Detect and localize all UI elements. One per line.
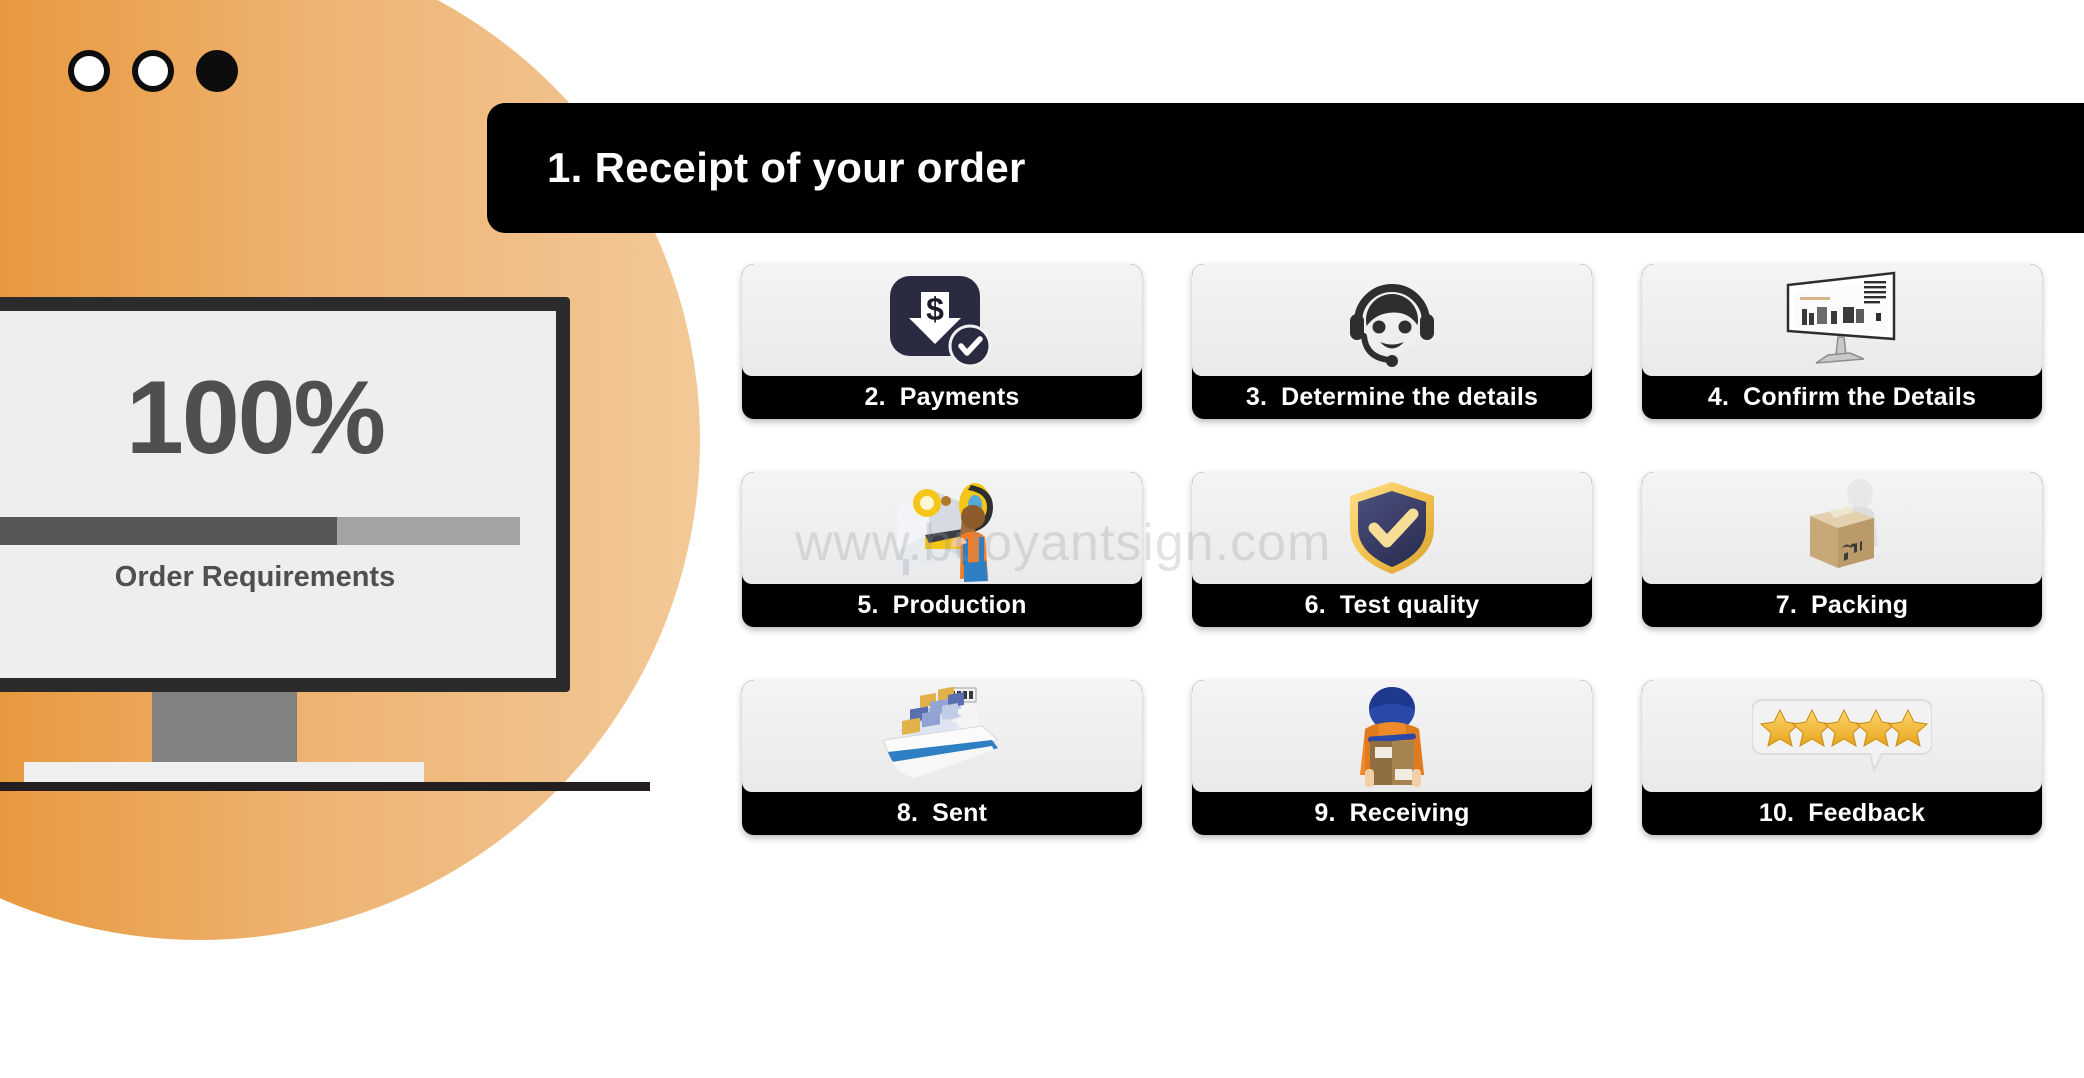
- five-star-rating-bubble-icon: [1752, 694, 1932, 778]
- window-dot-3: [196, 50, 238, 92]
- step-number: 5.: [857, 591, 878, 620]
- monitor-illustration: 100% Order Requirements: [0, 297, 570, 692]
- step-icon-area: [1642, 472, 2042, 584]
- step-label: 9. Receiving: [1192, 792, 1592, 835]
- step-text: Packing: [1811, 591, 1908, 620]
- step-card-payments[interactable]: $ 2. Payments: [742, 264, 1142, 419]
- money-down-arrow-check-icon: $: [888, 270, 996, 370]
- step-label: 5. Production: [742, 584, 1142, 627]
- step-text: Receiving: [1350, 799, 1470, 828]
- monitor-screen: 100% Order Requirements: [0, 311, 556, 678]
- step-card-test-quality[interactable]: 6. Test quality: [1192, 472, 1592, 627]
- step-card-packing[interactable]: 7. Packing: [1642, 472, 2042, 627]
- step-text: Sent: [932, 799, 987, 828]
- progress-bar-fill: [0, 517, 337, 545]
- step-text: Test quality: [1340, 591, 1479, 620]
- header-banner: 1. Receipt of your order: [487, 103, 2084, 233]
- step-icon-area: [1642, 680, 2042, 792]
- step-text: Payments: [900, 383, 1020, 412]
- process-steps-grid: $ 2. Payments: [742, 264, 2042, 835]
- factory-machine-worker-icon: [867, 473, 1017, 583]
- person-packing-box-icon: [1780, 476, 1904, 580]
- step-number: 9.: [1314, 799, 1335, 828]
- step-label: 10. Feedback: [1642, 792, 2042, 835]
- step-card-sent[interactable]: 8. Sent: [742, 680, 1142, 835]
- step-label: 8. Sent: [742, 792, 1142, 835]
- container-ship-icon: [862, 684, 1022, 788]
- step-text: Production: [893, 591, 1027, 620]
- step-card-determine-details[interactable]: 3. Determine the details: [1192, 264, 1592, 419]
- step-label: 4. Confirm the Details: [1642, 376, 2042, 419]
- monitor-stand-neck: [152, 692, 297, 764]
- page-title: 1. Receipt of your order: [547, 144, 1026, 192]
- step-number: 4.: [1708, 383, 1729, 412]
- step-number: 10.: [1759, 799, 1794, 828]
- progress-percent-text: 100%: [0, 359, 556, 478]
- shield-check-icon: [1340, 476, 1444, 580]
- step-number: 3.: [1246, 383, 1267, 412]
- step-label: 3. Determine the details: [1192, 376, 1592, 419]
- step-icon-area: [1642, 264, 2042, 376]
- slide-canvas: 100% Order Requirements 1. Receipt of yo…: [0, 0, 2084, 1078]
- step-card-confirm-details[interactable]: 4. Confirm the Details: [1642, 264, 2042, 419]
- window-dot-1: [68, 50, 110, 92]
- step-number: 8.: [897, 799, 918, 828]
- step-icon-area: $: [742, 264, 1142, 376]
- step-icon-area: [1192, 472, 1592, 584]
- step-number: 7.: [1776, 591, 1797, 620]
- step-label: 6. Test quality: [1192, 584, 1592, 627]
- step-icon-area: [1192, 264, 1592, 376]
- step-label: 2. Payments: [742, 376, 1142, 419]
- desktop-monitor-icon: [1776, 269, 1908, 371]
- monitor-stand-base: [24, 762, 424, 784]
- step-card-feedback[interactable]: 10. Feedback: [1642, 680, 2042, 835]
- step-icon-area: [742, 680, 1142, 792]
- step-number: 6.: [1305, 591, 1326, 620]
- progress-bar-label: Order Requirements: [0, 561, 556, 594]
- delivery-person-box-icon: [1337, 683, 1447, 789]
- step-label: 7. Packing: [1642, 584, 2042, 627]
- step-icon-area: [742, 472, 1142, 584]
- headset-support-agent-icon: [1336, 270, 1448, 370]
- step-text: Confirm the Details: [1743, 383, 1976, 412]
- progress-bar-track: [0, 517, 520, 545]
- step-card-production[interactable]: 5. Production: [742, 472, 1142, 627]
- svg-text:$: $: [926, 291, 944, 327]
- desk-line: [0, 782, 650, 791]
- step-text: Determine the details: [1281, 383, 1538, 412]
- step-text: Feedback: [1808, 799, 1925, 828]
- step-icon-area: [1192, 680, 1592, 792]
- window-dot-2: [132, 50, 174, 92]
- step-card-receiving[interactable]: 9. Receiving: [1192, 680, 1592, 835]
- step-number: 2.: [865, 383, 886, 412]
